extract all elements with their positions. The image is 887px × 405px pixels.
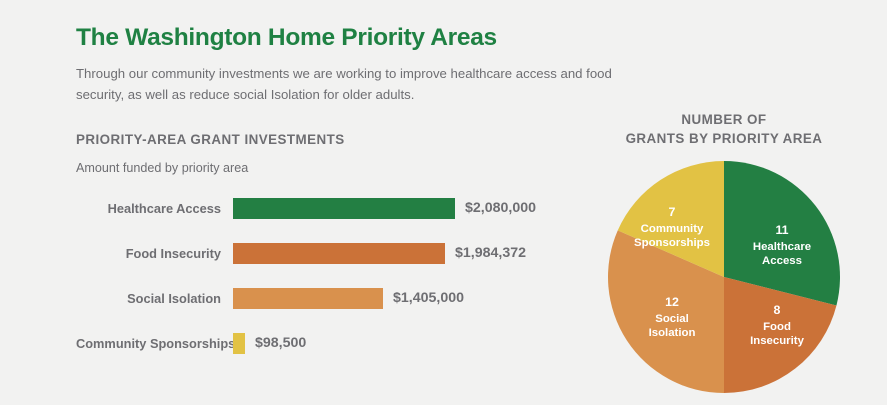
page-title: The Washington Home Priority Areas: [76, 24, 676, 52]
bar-category-label: Healthcare Access: [76, 201, 233, 216]
bar-track: $1,405,000: [233, 288, 576, 309]
pie-svg: [608, 161, 840, 393]
bar-fill-social-isolation: [233, 288, 383, 309]
bar-fill-community-sponsorships: [233, 333, 245, 354]
bar-chart-rows: Healthcare Access $2,080,000 Food Insecu…: [76, 197, 576, 354]
bar-value-label: $2,080,000: [465, 200, 536, 216]
pie-chart-title: NUMBER OF GRANTS BY PRIORITY AREA: [593, 110, 855, 149]
bar-fill-healthcare-access: [233, 198, 455, 219]
bar-category-label: Food Insecurity: [76, 246, 233, 261]
bar-value-label: $1,984,372: [455, 245, 526, 261]
bar-row: Community Sponsorships $98,500: [76, 332, 576, 354]
bar-track: $1,984,372: [233, 243, 576, 264]
bar-chart-heading: PRIORITY-AREA GRANT INVESTMENTS: [76, 132, 576, 147]
bar-fill-food-insecurity: [233, 243, 445, 264]
bar-value-label: $1,405,000: [393, 290, 464, 306]
bar-value-label: $98,500: [255, 335, 306, 351]
pie-title-line-2: GRANTS BY PRIORITY AREA: [626, 131, 823, 146]
bar-category-label: Community Sponsorships: [76, 336, 233, 351]
header: The Washington Home Priority Areas Throu…: [76, 24, 676, 105]
pie-chart-panel: NUMBER OF GRANTS BY PRIORITY AREA 11 Hea…: [593, 110, 855, 393]
page-subtitle: Through our community investments we are…: [76, 64, 636, 105]
bar-track: $98,500: [233, 333, 576, 354]
bar-row: Healthcare Access $2,080,000: [76, 197, 576, 219]
pie-chart-graphic: 11 Healthcare Access 8 Food Insecurity 1…: [608, 161, 840, 393]
bar-track: $2,080,000: [233, 198, 576, 219]
bar-row: Food Insecurity $1,984,372: [76, 242, 576, 264]
pie-title-line-1: NUMBER OF: [681, 112, 766, 127]
bar-chart-subheading: Amount funded by priority area: [76, 161, 576, 175]
bar-category-label: Social Isolation: [76, 291, 233, 306]
bar-row: Social Isolation $1,405,000: [76, 287, 576, 309]
bar-chart-panel: PRIORITY-AREA GRANT INVESTMENTS Amount f…: [76, 132, 576, 354]
